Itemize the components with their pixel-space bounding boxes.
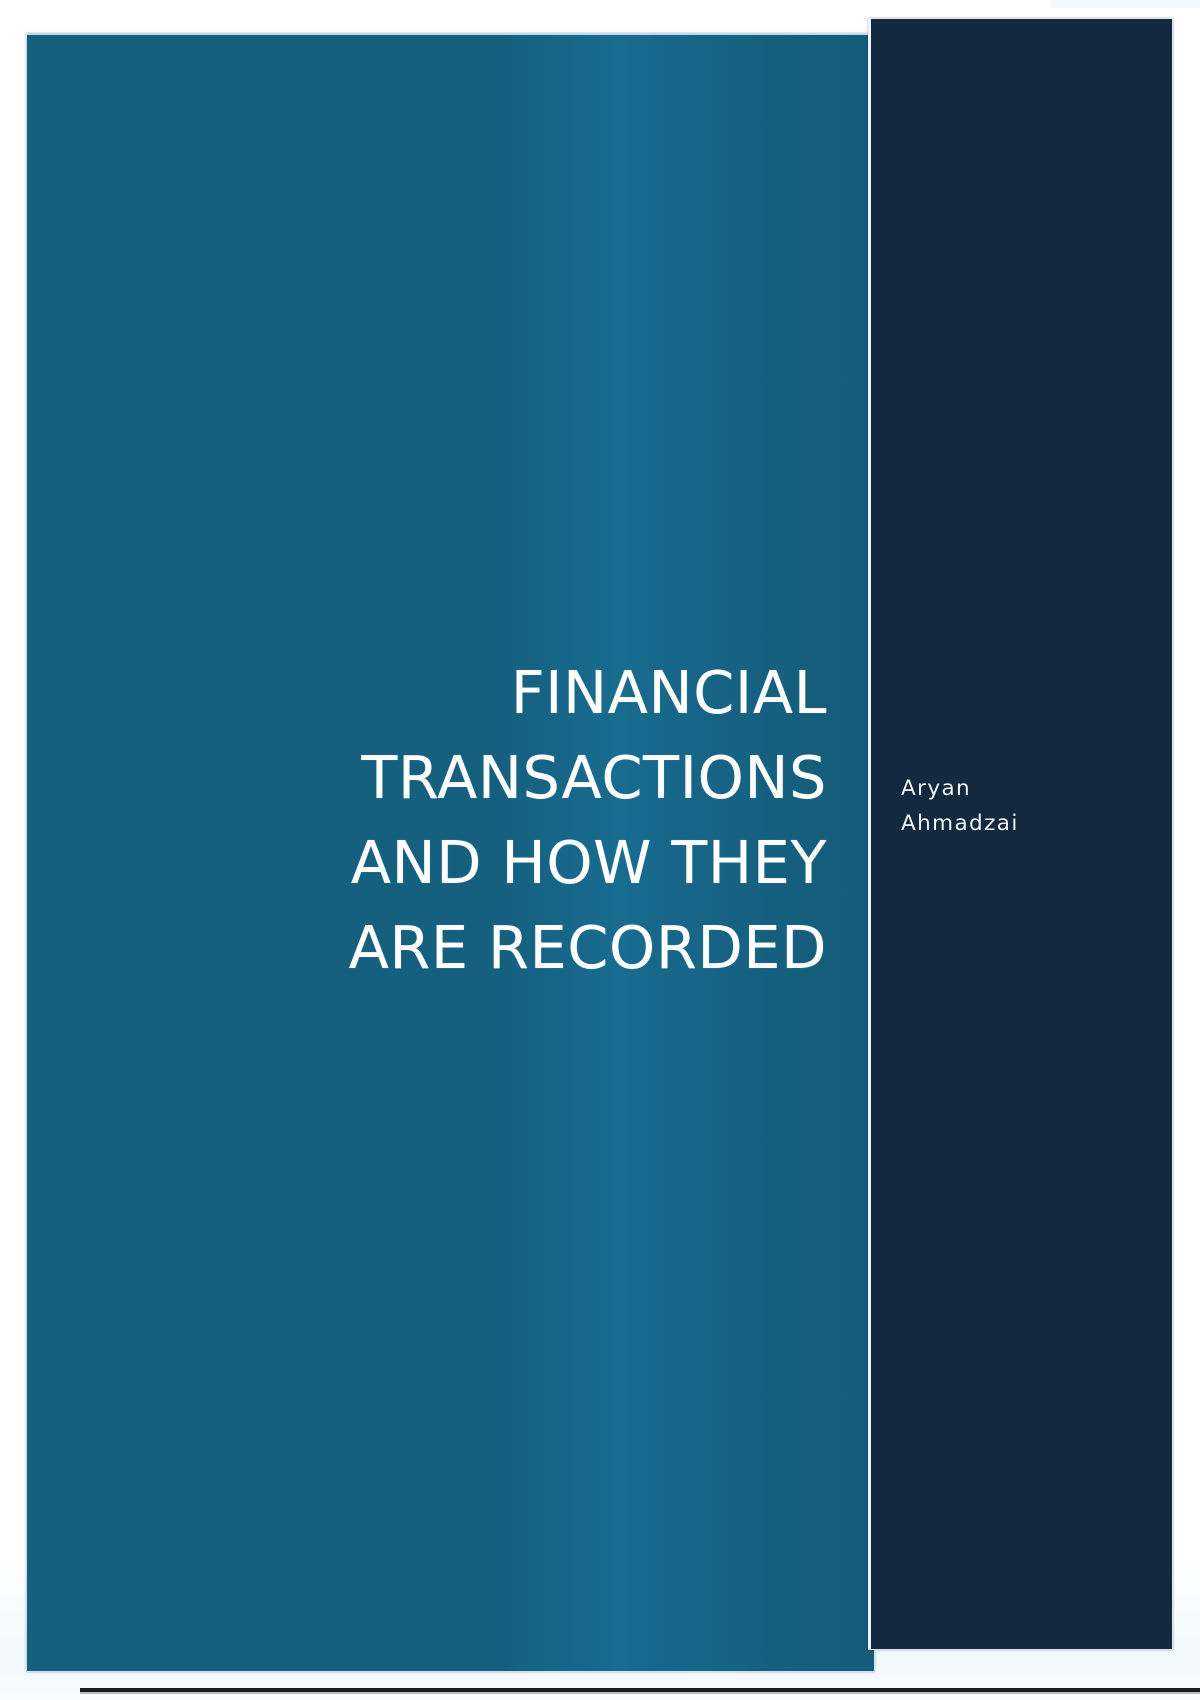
scan-artifact-top (1050, 0, 1200, 8)
cover-page-sheet: FINANCIAL TRANSACTIONS AND HOW THEY ARE … (0, 0, 1200, 1700)
title-line-1: FINANCIAL (511, 658, 827, 727)
title-line-2: TRANSACTIONS (361, 743, 827, 812)
title-line-3: AND HOW THEY (351, 828, 827, 897)
page-break-divider-shadow (80, 1692, 1200, 1694)
author-name: Aryan Ahmadzai (901, 771, 1151, 841)
title-line-4: ARE RECORDED (349, 913, 827, 982)
title-panel-inner: FINANCIAL TRANSACTIONS AND HOW THEY ARE … (27, 35, 874, 1671)
title-panel: FINANCIAL TRANSACTIONS AND HOW THEY ARE … (26, 33, 875, 1672)
author-line-first-name: Aryan (901, 771, 1151, 806)
page-title: FINANCIAL TRANSACTIONS AND HOW THEY ARE … (127, 650, 827, 990)
author-line-last-name: Ahmadzai (901, 806, 1151, 841)
author-panel: Aryan Ahmadzai (868, 18, 1173, 1650)
